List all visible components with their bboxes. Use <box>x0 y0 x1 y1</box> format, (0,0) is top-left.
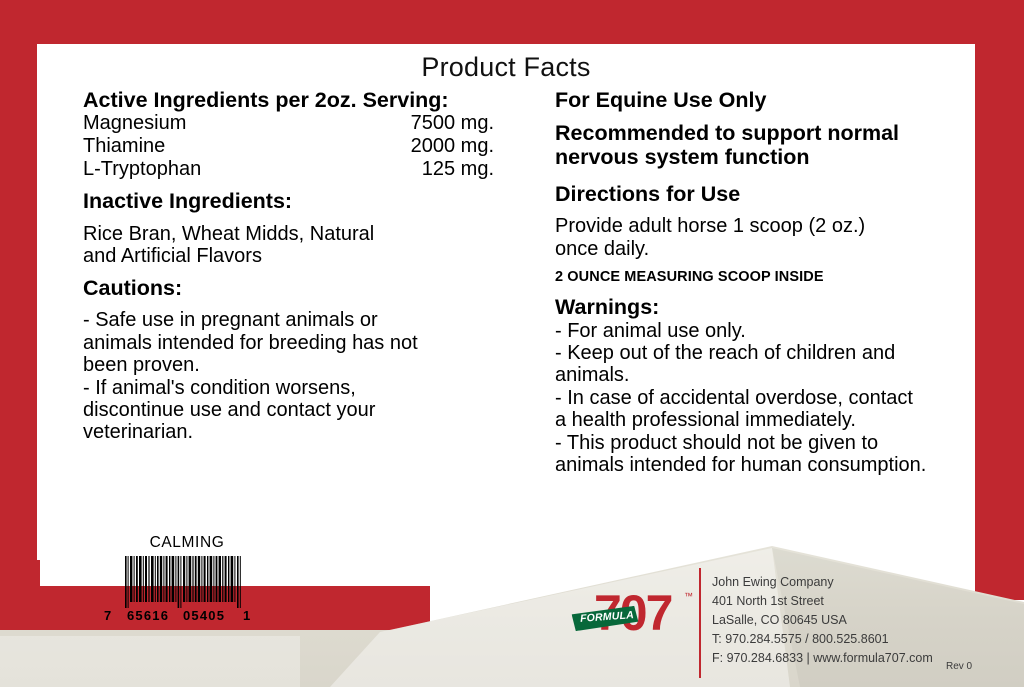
inactive-ingredients-line-2: and Artificial Flavors <box>83 245 513 267</box>
product-label: Product Facts Active Ingredients per 2oz… <box>0 0 1024 687</box>
inactive-ingredients-heading: Inactive Ingredients: <box>83 189 513 213</box>
barcode-caption: CALMING <box>103 534 271 552</box>
barcode-digit-right: 1 <box>243 608 250 623</box>
ingredient-name: Thiamine <box>83 135 165 158</box>
barcode-digit-left: 7 <box>104 608 111 623</box>
cautions-line: veterinarian. <box>83 421 513 443</box>
cautions-line: - Safe use in pregnant animals or <box>83 309 513 331</box>
ingredient-row: Magnesium 7500 mg. <box>83 112 494 135</box>
ingredient-name: L-Tryptophan <box>83 158 201 181</box>
company-phone: T: 970.284.5575 / 800.525.8601 <box>712 630 933 649</box>
left-column: Active Ingredients per 2oz. Serving: Mag… <box>83 88 513 444</box>
cautions-line: been proven. <box>83 354 513 376</box>
ingredient-amount: 125 mg. <box>422 158 494 181</box>
barcode-digits: 7 65616 05405 1 <box>103 608 271 624</box>
revision-label: Rev 0 <box>946 661 972 672</box>
red-border-right <box>975 0 1024 600</box>
directions-line-2: once daily. <box>555 238 975 260</box>
barcode-digit-group2: 05405 <box>183 608 225 623</box>
warnings-heading: Warnings: <box>555 295 975 319</box>
directions-line-1: Provide adult horse 1 scoop (2 oz.) <box>555 215 975 237</box>
directions-heading: Directions for Use <box>555 182 975 206</box>
warnings-line: - For animal use only. <box>555 320 975 342</box>
ingredient-row: Thiamine 2000 mg. <box>83 135 494 158</box>
active-ingredients-list: Magnesium 7500 mg. Thiamine 2000 mg. L-T… <box>83 112 513 180</box>
equine-use-heading: For Equine Use Only <box>555 88 975 112</box>
cautions-list: - Safe use in pregnant animals or animal… <box>83 309 513 443</box>
warnings-line: animals. <box>555 364 975 386</box>
barcode-digit-group1: 65616 <box>127 608 169 623</box>
company-address-block: John Ewing Company 401 North 1st Street … <box>712 573 933 668</box>
warnings-line: - Keep out of the reach of children and <box>555 342 975 364</box>
warnings-line: animals intended for human consumption. <box>555 454 975 476</box>
red-border-top <box>0 0 1024 44</box>
logo-address-divider <box>699 568 701 678</box>
cautions-line: discontinue use and contact your <box>83 399 513 421</box>
warnings-line: a health professional immediately. <box>555 409 975 431</box>
page-title: Product Facts <box>40 52 972 83</box>
recommendation-line-2: nervous system function <box>555 145 975 169</box>
ingredient-row: L-Tryptophan 125 mg. <box>83 158 494 181</box>
warnings-line: - This product should not be given to <box>555 432 975 454</box>
ingredient-amount: 2000 mg. <box>411 135 494 158</box>
barcode-block: CALMING <box>103 534 271 624</box>
scoop-note: 2 OUNCE MEASURING SCOOP INSIDE <box>555 269 975 286</box>
inactive-ingredients-line-1: Rice Bran, Wheat Midds, Natural <box>83 223 513 245</box>
trademark-symbol: ™ <box>684 591 693 601</box>
company-fax-web: F: 970.284.6833 | www.formula707.com <box>712 649 933 668</box>
company-name: John Ewing Company <box>712 573 933 592</box>
cautions-line: animals intended for breeding has not <box>83 332 513 354</box>
warnings-list: - For animal use only. - Keep out of the… <box>555 320 975 477</box>
right-column: For Equine Use Only Recommended to suppo… <box>555 88 975 476</box>
warnings-line: - In case of accidental overdose, contac… <box>555 387 975 409</box>
barcode-icon <box>125 556 249 608</box>
ingredient-name: Magnesium <box>83 112 186 135</box>
active-ingredients-heading: Active Ingredients per 2oz. Serving: <box>83 88 513 112</box>
cautions-heading: Cautions: <box>83 276 513 300</box>
cautions-line: - If animal's condition worsens, <box>83 377 513 399</box>
formula-707-logo: 707 ™ FORMULA <box>572 586 702 640</box>
recommendation-line-1: Recommended to support normal <box>555 121 975 145</box>
company-street: 401 North 1st Street <box>712 592 933 611</box>
ingredient-amount: 7500 mg. <box>411 112 494 135</box>
company-city: LaSalle, CO 80645 USA <box>712 611 933 630</box>
